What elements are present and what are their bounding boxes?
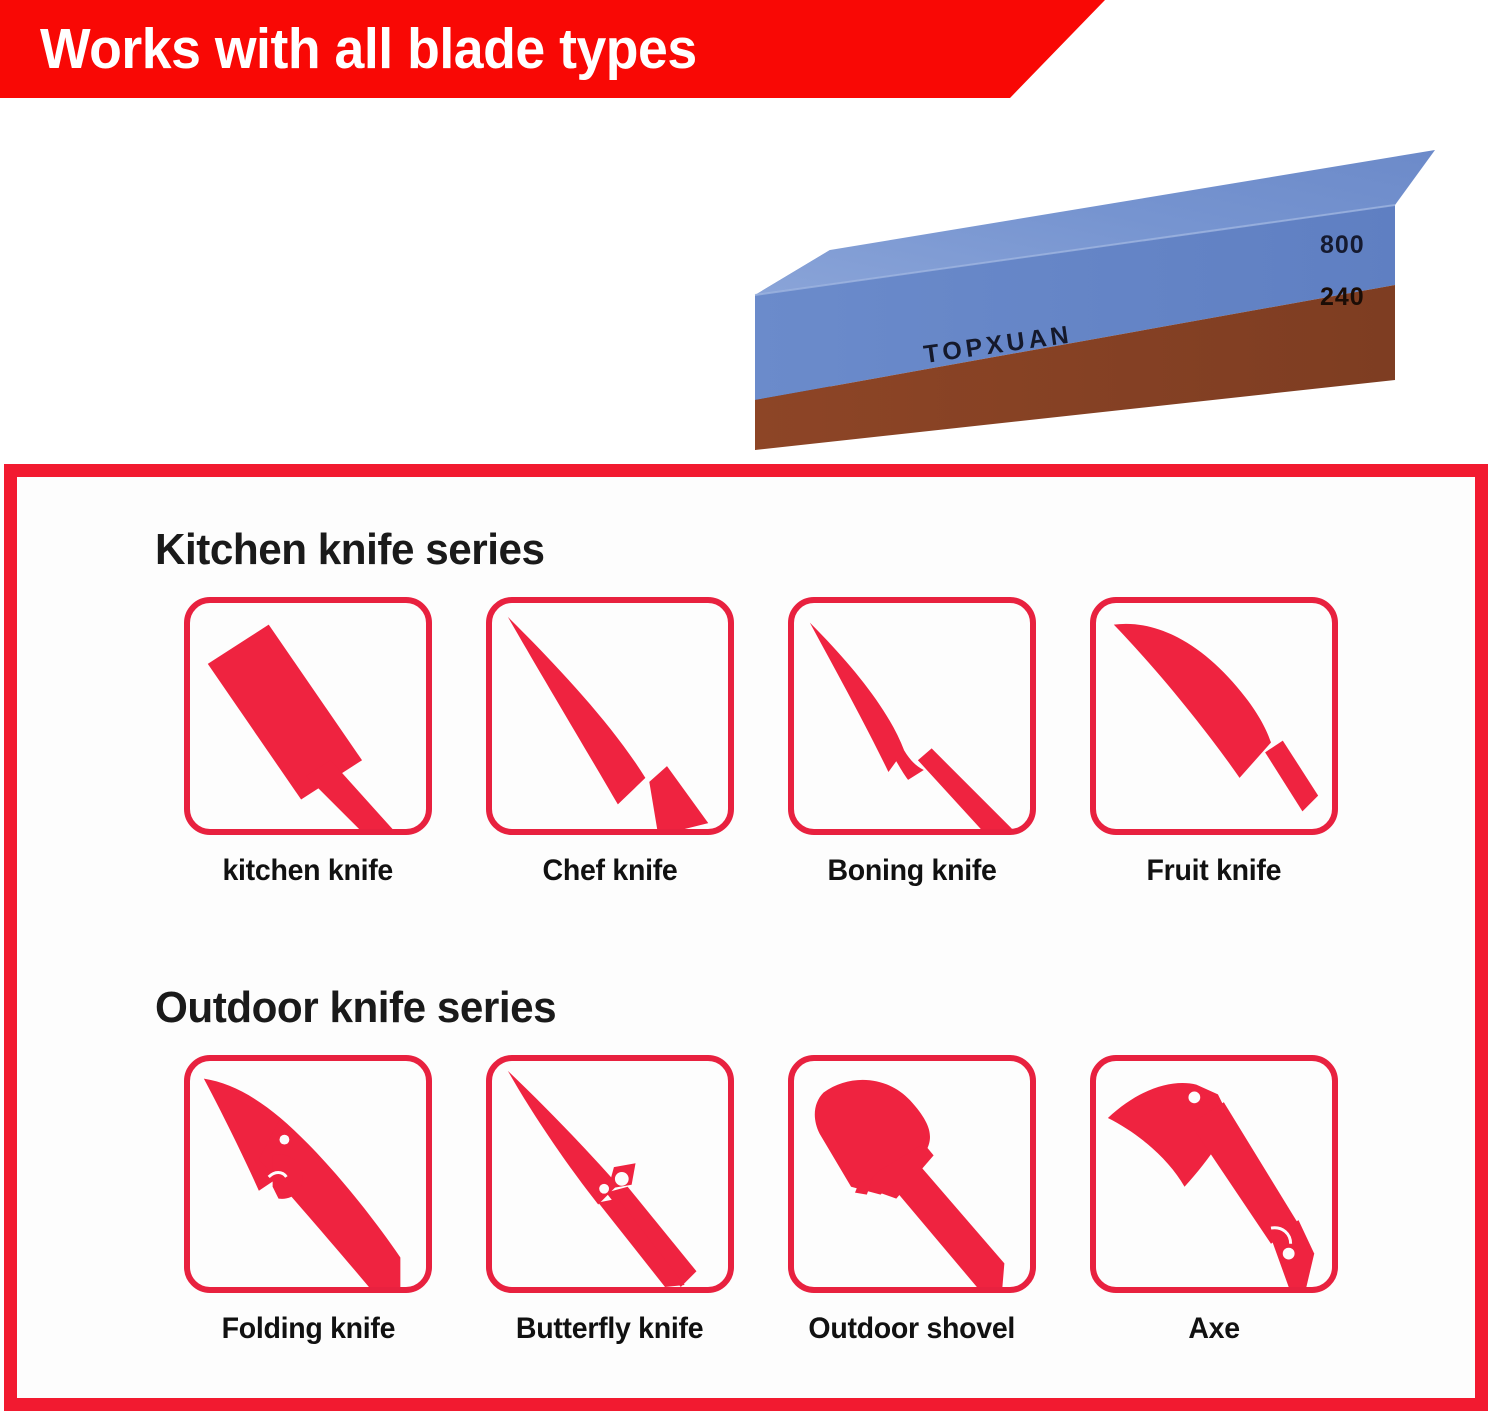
knife-item-kitchen-knife[interactable]: kitchen knife	[157, 597, 459, 888]
knife-item-axe[interactable]: Axe	[1063, 1055, 1365, 1346]
outdoor-knife-row: Folding knife Butterf	[157, 1055, 1367, 1346]
knife-label: kitchen knife	[223, 854, 394, 888]
section-heading-outdoor: Outdoor knife series	[155, 983, 556, 1033]
whetstone-product-image: TOPXUAN 800 240	[735, 95, 1455, 465]
knife-label: Boning knife	[827, 854, 996, 888]
knife-item-butterfly-knife[interactable]: Butterfly knife	[459, 1055, 761, 1346]
grit-coarse-text: 240	[1320, 283, 1365, 311]
cleaver-icon	[184, 597, 432, 835]
knife-item-fruit-knife[interactable]: Fruit knife	[1063, 597, 1365, 888]
header-banner: Works with all blade types	[0, 0, 1105, 98]
knife-item-chef-knife[interactable]: Chef knife	[459, 597, 761, 888]
knife-types-panel: Kitchen knife series kitchen knife	[4, 464, 1488, 1411]
section-heading-kitchen: Kitchen knife series	[155, 525, 545, 575]
knife-item-outdoor-shovel[interactable]: Outdoor shovel	[761, 1055, 1063, 1346]
knife-label: Folding knife	[221, 1312, 395, 1346]
shovel-icon	[788, 1055, 1036, 1293]
knife-item-boning-knife[interactable]: Boning knife	[761, 597, 1063, 888]
knife-label: Chef knife	[543, 854, 678, 888]
knife-item-folding-knife[interactable]: Folding knife	[157, 1055, 459, 1346]
chef-knife-icon	[486, 597, 734, 835]
grit-fine-text: 800	[1320, 231, 1365, 259]
axe-icon	[1090, 1055, 1338, 1293]
butterfly-knife-icon	[486, 1055, 734, 1293]
kitchen-knife-row: kitchen knife Chef knife	[157, 597, 1367, 888]
fruit-knife-icon	[1090, 597, 1338, 835]
knife-label: Outdoor shovel	[809, 1312, 1016, 1346]
knife-label: Butterfly knife	[516, 1312, 703, 1346]
folding-knife-icon	[184, 1055, 432, 1293]
banner-title: Works with all blade types	[40, 16, 697, 82]
knife-label: Axe	[1188, 1312, 1239, 1346]
knife-label: Fruit knife	[1147, 854, 1282, 888]
boning-knife-icon	[788, 597, 1036, 835]
